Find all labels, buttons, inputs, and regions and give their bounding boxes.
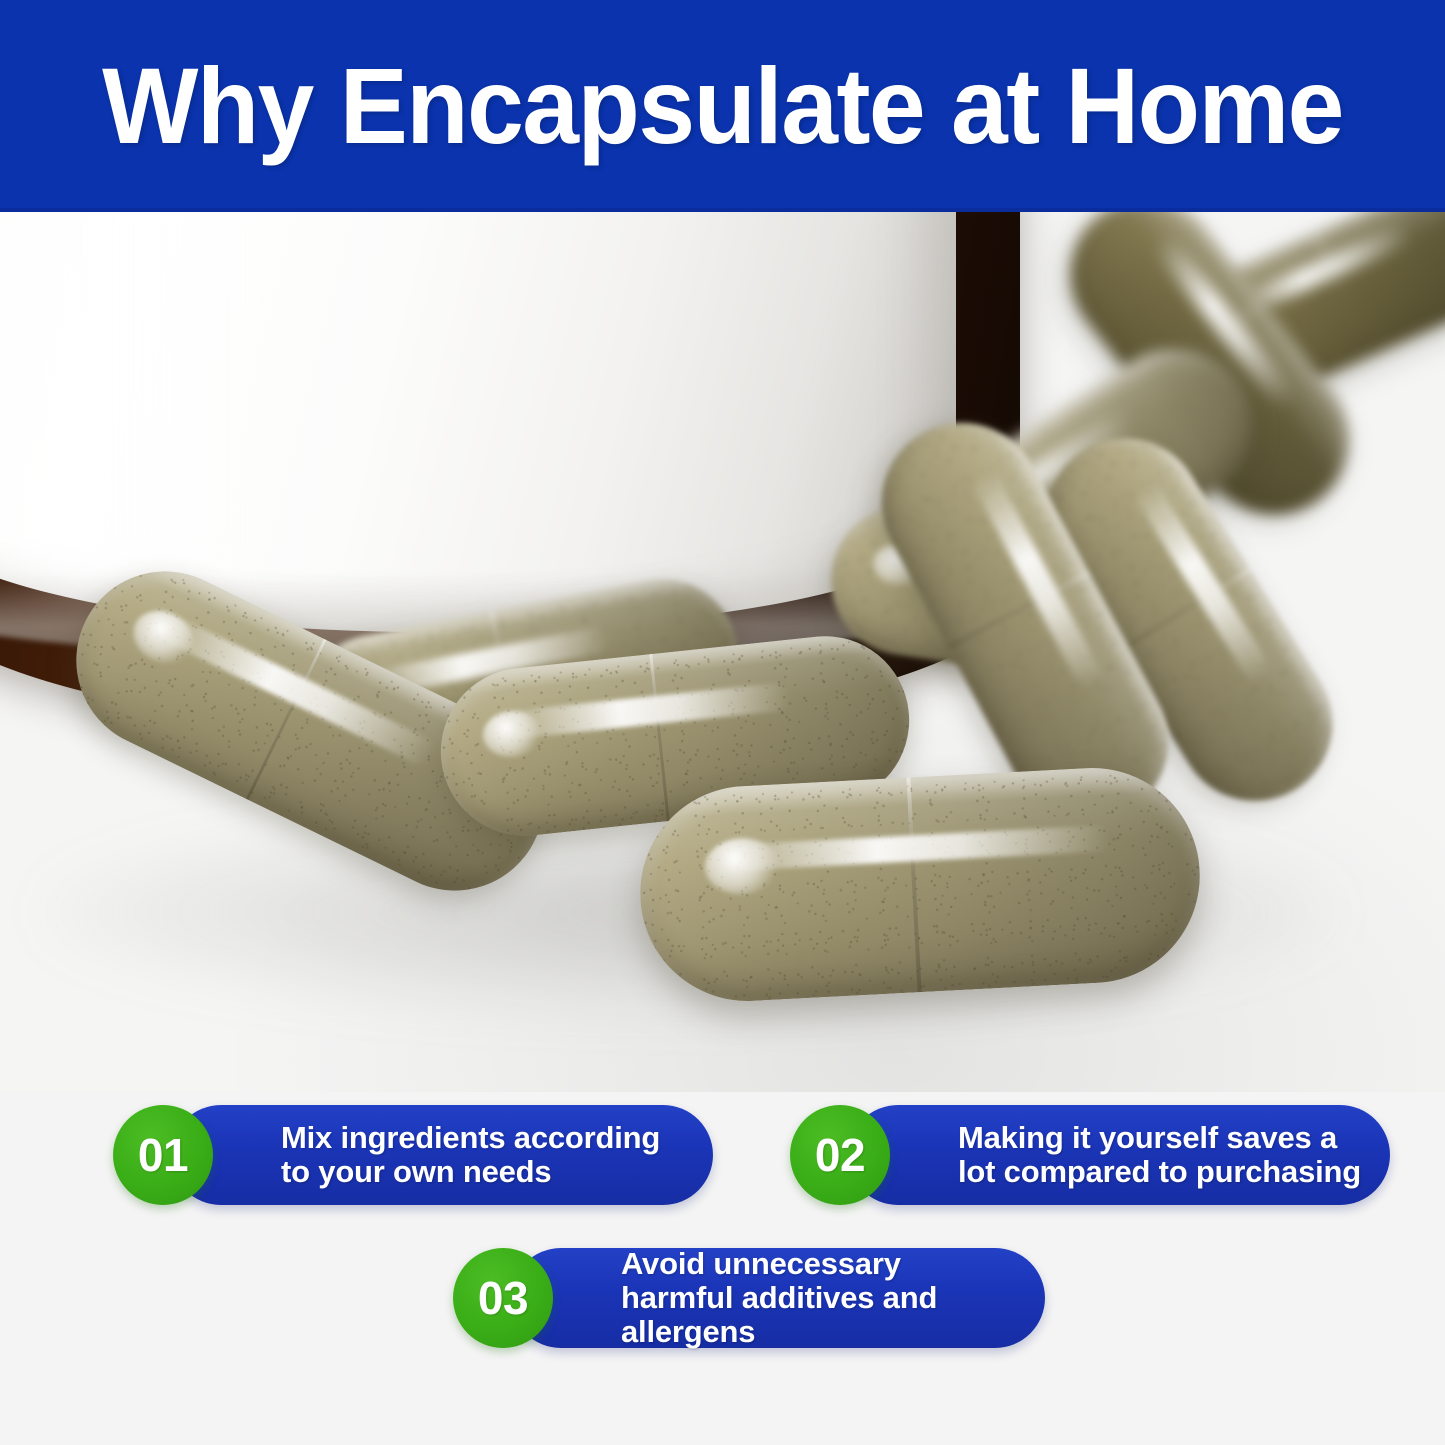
benefit-pill-03: Avoid unnecessary harmful additives and …	[511, 1248, 1045, 1348]
benefit-badge-02: Making it yourself saves a lot compared …	[790, 1105, 1390, 1205]
benefit-badge-03: Avoid unnecessary harmful additives and …	[453, 1248, 1045, 1348]
benefit-text-02: Making it yourself saves a lot compared …	[848, 1121, 1390, 1189]
benefit-badge-list: Mix ingredients according to your own ne…	[0, 1092, 1445, 1445]
product-photo	[0, 212, 1445, 1092]
benefit-text-01: Mix ingredients according to your own ne…	[171, 1121, 713, 1189]
benefit-text-03: Avoid unnecessary harmful additives and …	[511, 1247, 1045, 1348]
benefit-pill-02: Making it yourself saves a lot compared …	[848, 1105, 1390, 1205]
capsule-cluster	[0, 212, 1445, 1092]
page-title: Why Encapsulate at Home	[102, 52, 1343, 160]
capsule-front-hero	[635, 762, 1205, 1006]
benefit-number-03: 03	[478, 1275, 528, 1321]
header-banner: Why Encapsulate at Home	[0, 0, 1445, 212]
benefit-number-circle-01: 01	[113, 1105, 213, 1205]
benefit-number-01: 01	[138, 1132, 188, 1178]
infographic-poster: Why Encapsulate at Home	[0, 0, 1445, 1445]
benefit-number-circle-03: 03	[453, 1248, 553, 1348]
benefit-number-02: 02	[815, 1132, 865, 1178]
benefit-pill-01: Mix ingredients according to your own ne…	[171, 1105, 713, 1205]
benefit-badge-01: Mix ingredients according to your own ne…	[113, 1105, 713, 1205]
benefit-number-circle-02: 02	[790, 1105, 890, 1205]
